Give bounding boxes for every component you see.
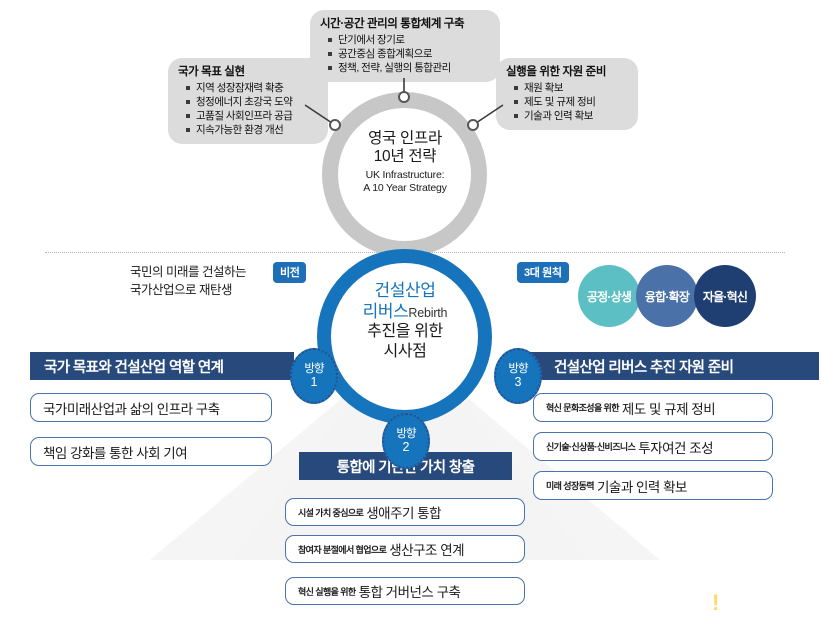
list-item: 지속가능한 환경 개선 bbox=[182, 123, 318, 137]
box-prefix: 시설 가치 중심으로 bbox=[298, 506, 363, 519]
box-label: 책임 강화를 통한 사회 기여 bbox=[43, 442, 187, 462]
list-item: 제도 및 규제 정비 bbox=[510, 95, 628, 109]
center-line4: 시사점 bbox=[325, 342, 485, 362]
direction-1-box-2[interactable]: 책임 강화를 통한 사회 기여 bbox=[30, 437, 272, 466]
direction-badge-text: 방향 bbox=[304, 363, 323, 375]
direction-3-header: 건설산업 리버스 추진 자원 준비 bbox=[528, 352, 819, 380]
principle-circle-fairness: 공정·상생 bbox=[578, 265, 640, 327]
vision-text: 국민의 미래를 건설하는 국가산업으로 재탄생 bbox=[130, 263, 246, 299]
vision-line1: 국민의 미래를 건설하는 bbox=[130, 263, 246, 281]
direction-2-box-2[interactable]: 참여자 분절에서 협업으로 생산구조 연계 bbox=[285, 535, 525, 563]
connector-node-left bbox=[329, 119, 341, 131]
connector-node-right bbox=[467, 119, 479, 131]
principles-badge: 3대 원칙 bbox=[517, 262, 569, 283]
uk-strategy-label: 영국 인프라 10년 전략 UK Infrastructure: A 10 Ye… bbox=[330, 130, 480, 195]
direction-3-header-label: 건설산업 리버스 추진 자원 준비 bbox=[554, 356, 733, 377]
direction-1-box-1[interactable]: 국가미래산업과 삶의 인프라 구축 bbox=[30, 393, 272, 422]
direction-3-box-1[interactable]: 혁신 문화조성을 위한 제도 및 규제 정비 bbox=[533, 393, 773, 422]
box-prefix: 신기술·신상품·신비즈니스 bbox=[546, 440, 635, 453]
direction-2-box-1[interactable]: 시설 가치 중심으로 생애주기 통합 bbox=[285, 498, 525, 526]
center-line3: 추진을 위한 bbox=[325, 322, 485, 342]
box-prefix: 미래 성장동력 bbox=[546, 479, 594, 492]
list-item: 고품질 사회인프라 공급 bbox=[182, 109, 318, 123]
callout-resource-preparation: 실행을 위한 자원 준비 재원 확보 제도 및 규제 정비 기술과 인력 확보 bbox=[496, 58, 638, 130]
center-line2-en: Rebirth bbox=[408, 306, 447, 320]
callout-list: 단기에서 장기로 공간중심 종합계획으로 정책, 전략, 실행의 통합관리 bbox=[320, 33, 490, 75]
box-label: 통합 거버넌스 구축 bbox=[359, 581, 461, 601]
callout-title: 실행을 위한 자원 준비 bbox=[506, 63, 628, 79]
direction-badge-number: 1 bbox=[311, 376, 318, 390]
direction-badge-number: 2 bbox=[403, 441, 410, 455]
callout-national-goals: 국가 목표 실현 지역 성장잠재력 확충 청정에너지 초강국 도약 고품질 사회… bbox=[168, 58, 328, 144]
direction-2-badge: 방향 2 bbox=[382, 413, 430, 469]
list-item: 단기에서 장기로 bbox=[324, 33, 490, 47]
box-label: 국가미래산업과 삶의 인프라 구축 bbox=[43, 398, 220, 418]
center-line2: 리버스Rebirth bbox=[325, 302, 485, 323]
box-label: 투자여건 조성 bbox=[638, 437, 713, 457]
box-label: 생애주기 통합 bbox=[366, 502, 441, 522]
direction-1-badge: 방향 1 bbox=[290, 348, 338, 404]
connector-node-top bbox=[398, 91, 410, 103]
principle-label: 융합·확장 bbox=[645, 288, 689, 305]
box-prefix: 혁신 실행을 위한 bbox=[298, 585, 356, 598]
ring-line1: 영국 인프라 bbox=[330, 130, 480, 147]
list-item: 공간중심 종합계획으로 bbox=[324, 47, 490, 61]
ring-english-line1: UK Infrastructure: bbox=[330, 169, 480, 182]
list-item: 정책, 전략, 실행의 통합관리 bbox=[324, 61, 490, 75]
direction-badge-text: 방향 bbox=[396, 428, 415, 440]
direction-badge-number: 3 bbox=[515, 376, 522, 390]
direction-1-header-label: 국가 목표와 건설산업 역할 연계 bbox=[44, 356, 223, 377]
principle-circle-convergence: 융합·확장 bbox=[636, 265, 698, 327]
callout-list: 재원 확보 제도 및 규제 정비 기술과 인력 확보 bbox=[506, 81, 628, 123]
direction-3-badge: 방향 3 bbox=[494, 348, 542, 404]
direction-3-box-2[interactable]: 신기술·신상품·신비즈니스 투자여건 조성 bbox=[533, 432, 773, 461]
list-item: 기술과 인력 확보 bbox=[510, 109, 628, 123]
box-prefix: 혁신 문화조성을 위한 bbox=[546, 401, 619, 414]
principle-label: 자율·혁신 bbox=[703, 288, 747, 305]
ring-line2: 10년 전략 bbox=[330, 148, 480, 165]
center-label: 건설산업 리버스Rebirth 추진을 위한 시사점 bbox=[325, 281, 485, 362]
callout-list: 지역 성장잠재력 확충 청정에너지 초강국 도약 고품질 사회인프라 공급 지속… bbox=[178, 81, 318, 137]
principle-circle-autonomy: 자율·혁신 bbox=[694, 265, 756, 327]
center-line1: 건설산업 bbox=[325, 281, 485, 302]
direction-3-box-3[interactable]: 미래 성장동력 기술과 인력 확보 bbox=[533, 471, 773, 500]
direction-badge-text: 방향 bbox=[508, 363, 527, 375]
direction-1-header: 국가 목표와 건설산업 역할 연계 bbox=[30, 352, 294, 380]
ring-english-line2: A 10 Year Strategy bbox=[330, 182, 480, 195]
principle-label: 공정·상생 bbox=[587, 288, 631, 305]
attention-mark-icon: ! bbox=[712, 592, 719, 614]
callout-time-space-integration: 시간·공간 관리의 통합체계 구축 단기에서 장기로 공간중심 종합계획으로 정… bbox=[310, 10, 500, 82]
center-line2-kr: 리버스 bbox=[363, 302, 409, 321]
box-label: 제도 및 규제 정비 bbox=[622, 398, 715, 418]
box-label: 생산구조 연계 bbox=[389, 539, 464, 559]
list-item: 지역 성장잠재력 확충 bbox=[182, 81, 318, 95]
list-item: 청정에너지 초강국 도약 bbox=[182, 95, 318, 109]
callout-title: 시간·공간 관리의 통합체계 구축 bbox=[320, 15, 490, 31]
vision-line2: 국가산업으로 재탄생 bbox=[130, 281, 246, 299]
box-prefix: 참여자 분절에서 협업으로 bbox=[298, 543, 386, 556]
box-label: 기술과 인력 확보 bbox=[597, 476, 687, 496]
callout-title: 국가 목표 실현 bbox=[178, 63, 318, 79]
diagram-canvas: 국가 목표 실현 지역 성장잠재력 확충 청정에너지 초강국 도약 고품질 사회… bbox=[0, 0, 821, 626]
vision-badge: 비전 bbox=[273, 262, 306, 283]
list-item: 재원 확보 bbox=[510, 81, 628, 95]
direction-2-box-3[interactable]: 혁신 실행을 위한 통합 거버넌스 구축 bbox=[285, 577, 525, 605]
